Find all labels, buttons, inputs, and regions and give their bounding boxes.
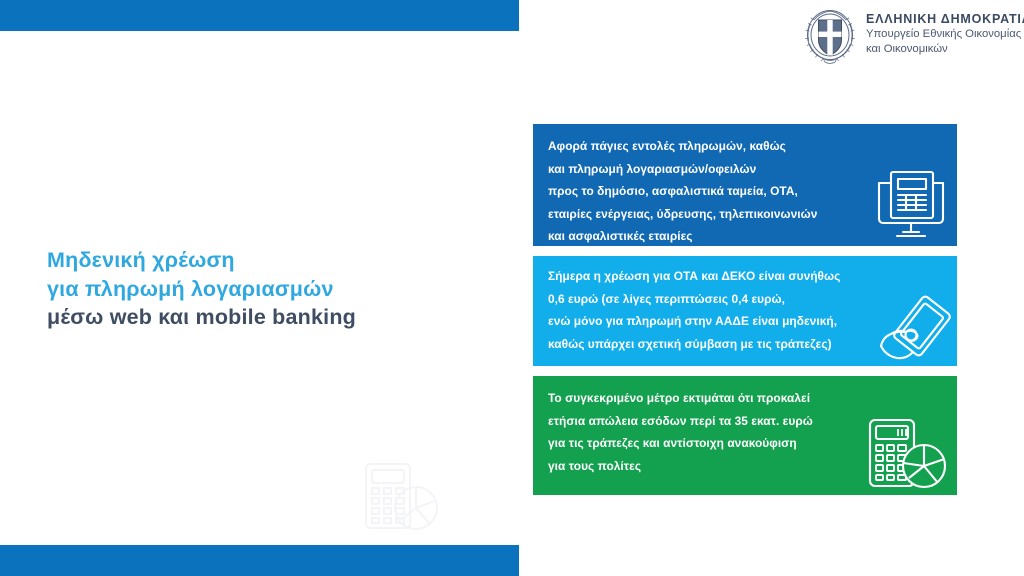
bottom-accent-bar bbox=[0, 545, 519, 576]
top-accent-bar bbox=[0, 0, 519, 31]
info-card-impact-text: Το συγκεκριμένο μέτρο εκτιμάται ότι προκ… bbox=[548, 387, 900, 477]
info-card-scope-text: Αφορά πάγιες εντολές πληρωμών, καθώς και… bbox=[548, 135, 900, 246]
card-line: προς το δημόσιο, ασφαλιστικά ταμεία, ΟΤΑ… bbox=[548, 180, 900, 203]
card-line: εταιρίες ενέργειας, ύδρευσης, τηλεπικοιν… bbox=[548, 203, 900, 226]
info-card-current-fees: Σήμερα η χρέωση για ΟΤΑ και ΔΕΚΟ είναι σ… bbox=[533, 256, 957, 366]
hand-holding-card-icon bbox=[875, 294, 953, 366]
card-line: Σήμερα η χρέωση για ΟΤΑ και ΔΕΚΟ είναι σ… bbox=[548, 265, 910, 288]
card-line: 0,6 ευρώ (σε λίγες περιπτώσεις 0,4 ευρώ, bbox=[548, 288, 910, 311]
monitor-invoice-icon bbox=[875, 166, 947, 242]
ministry-name-primary: ΕΛΛΗΝΙΚΗ ΔΗΜΟΚΡΑΤΙΑ bbox=[866, 12, 1024, 27]
headline-line-1: Μηδενική χρέωση bbox=[47, 246, 477, 275]
card-line: ετήσια απώλεια εσόδων περί τα 35 εκατ. ε… bbox=[548, 410, 900, 433]
headline-line-2: για πληρωμή λογαριασμών bbox=[47, 275, 477, 304]
card-line: για τους πολίτες bbox=[548, 455, 900, 478]
greek-coat-of-arms-icon bbox=[804, 8, 856, 64]
info-card-stack: Αφορά πάγιες εντολές πληρωμών, καθώς και… bbox=[533, 124, 957, 495]
ministry-name-secondary-1: Υπουργείο Εθνικής Οικονομίας bbox=[866, 27, 1024, 42]
calculator-pie-chart-watermark-icon bbox=[363, 462, 441, 532]
card-line: ενώ μόνο για πληρωμή στην ΑΑΔΕ είναι μηδ… bbox=[548, 310, 910, 333]
headline: Μηδενική χρέωση για πληρωμή λογαριασμών … bbox=[47, 246, 477, 332]
info-card-impact: Το συγκεκριμένο μέτρο εκτιμάται ότι προκ… bbox=[533, 376, 957, 495]
card-line: καθώς υπάρχει σχετική σύμβαση με τις τρά… bbox=[548, 333, 910, 356]
ministry-logo-text: ΕΛΛΗΝΙΚΗ ΔΗΜΟΚΡΑΤΙΑ Υπουργείο Εθνικής Οι… bbox=[866, 8, 1024, 56]
info-card-scope: Αφορά πάγιες εντολές πληρωμών, καθώς και… bbox=[533, 124, 957, 246]
card-line: και ασφαλιστικές εταιρίες bbox=[548, 225, 900, 246]
card-line: Αφορά πάγιες εντολές πληρωμών, καθώς bbox=[548, 135, 900, 158]
headline-line-3: μέσω web και mobile banking bbox=[47, 303, 477, 332]
slide-canvas: ΕΛΛΗΝΙΚΗ ΔΗΜΟΚΡΑΤΙΑ Υπουργείο Εθνικής Οι… bbox=[0, 0, 1024, 576]
card-line: για τις τράπεζες και αντίστοιχη ανακούφι… bbox=[548, 432, 900, 455]
card-line: και πληρωμή λογαριασμών/οφειλών bbox=[548, 158, 900, 181]
calculator-pie-chart-icon bbox=[865, 415, 951, 495]
ministry-name-secondary-2: και Οικονομικών bbox=[866, 42, 1024, 57]
info-card-current-fees-text: Σήμερα η χρέωση για ΟΤΑ και ΔΕΚΟ είναι σ… bbox=[548, 265, 910, 355]
card-line: Το συγκεκριμένο μέτρο εκτιμάται ότι προκ… bbox=[548, 387, 900, 410]
ministry-logo: ΕΛΛΗΝΙΚΗ ΔΗΜΟΚΡΑΤΙΑ Υπουργείο Εθνικής Οι… bbox=[804, 8, 1020, 66]
